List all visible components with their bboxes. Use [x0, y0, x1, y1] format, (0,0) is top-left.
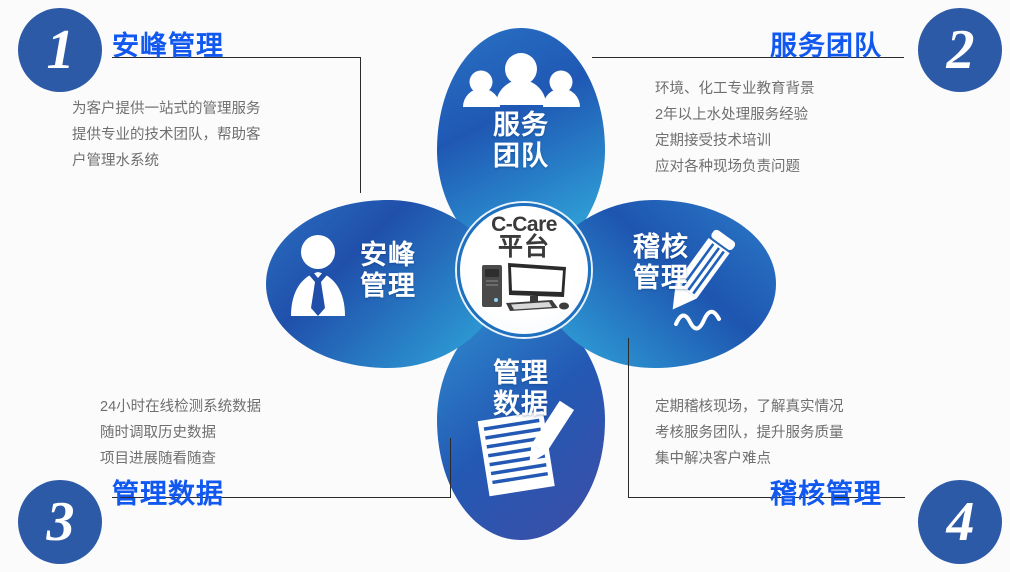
step-number-badge-4[interactable]: 4: [918, 480, 1002, 564]
petal-label-left: 安峰 管理: [345, 240, 431, 302]
hub-title-cn: 平台: [498, 235, 550, 260]
section-body-4-line-1: 定期稽核现场，了解真实情况: [655, 394, 844, 420]
section-body-2-line-4: 应对各种现场负责问题: [655, 154, 815, 180]
petal-label-bottom: 管理 数据: [478, 358, 564, 420]
petal-label-top: 服务 团队: [478, 110, 564, 172]
section-body-1-line-3: 户管理水系统: [72, 148, 261, 174]
step-number-badge-2[interactable]: 2: [918, 8, 1002, 92]
section-body-4: 定期稽核现场，了解真实情况 考核服务团队，提升服务质量 集中解决客户难点: [655, 394, 844, 472]
section-body-3-line-2: 随时调取历史数据: [100, 420, 261, 446]
desktop-computer-icon: [478, 261, 570, 313]
section-title-2: 服务团队: [770, 24, 882, 63]
section-body-1: 为客户提供一站式的管理服务 提供专业的技术团队，帮助客 户管理水系统: [72, 96, 261, 174]
petal-label-bottom-line2: 数据: [478, 389, 564, 420]
section-body-2-line-2: 2年以上水处理服务经验: [655, 102, 815, 128]
step-number-4: 4: [947, 494, 974, 550]
section-title-4: 稽核管理: [770, 472, 882, 511]
section-body-2-line-1: 环境、化工专业教育背景: [655, 76, 815, 102]
section-title-3: 管理数据: [112, 472, 224, 511]
step-number-3: 3: [47, 494, 74, 550]
connector-line-3-vertical: [450, 438, 451, 498]
petal-label-right-line2: 管理: [618, 263, 704, 294]
section-body-4-line-3: 集中解决客户难点: [655, 446, 844, 472]
petal-label-top-line1: 服务: [478, 110, 564, 141]
section-body-4-line-2: 考核服务团队，提升服务质量: [655, 420, 844, 446]
step-number-1: 1: [47, 22, 74, 78]
section-body-2-line-3: 定期接受技术培训: [655, 128, 815, 154]
section-body-3: 24小时在线检测系统数据 随时调取历史数据 项目进展随看随查: [100, 394, 261, 472]
petal-label-top-line2: 团队: [478, 141, 564, 172]
section-body-3-line-1: 24小时在线检测系统数据: [100, 394, 261, 420]
petal-label-left-line1: 安峰: [345, 240, 431, 271]
step-number-badge-3[interactable]: 3: [18, 480, 102, 564]
petal-label-bottom-line1: 管理: [478, 358, 564, 389]
section-body-1-line-2: 提供专业的技术团队，帮助客: [72, 122, 261, 148]
infographic-canvas: 服务 团队 安峰 管理 稽核 管理 管理 数据 C-Care 平台: [0, 0, 1010, 572]
petal-label-right-line1: 稽核: [618, 232, 704, 263]
connector-line-1-vertical: [360, 57, 361, 193]
section-title-1: 安峰管理: [112, 24, 224, 63]
petal-label-left-line2: 管理: [345, 271, 431, 302]
connector-line-4-vertical: [628, 338, 629, 498]
section-body-2: 环境、化工专业教育背景 2年以上水处理服务经验 定期接受技术培训 应对各种现场负…: [655, 76, 815, 180]
section-body-3-line-3: 项目进展随看随查: [100, 446, 261, 472]
petal-label-right: 稽核 管理: [618, 232, 704, 294]
section-body-1-line-1: 为客户提供一站式的管理服务: [72, 96, 261, 122]
step-number-badge-1[interactable]: 1: [18, 8, 102, 92]
step-number-2: 2: [947, 22, 974, 78]
center-hub[interactable]: C-Care 平台: [457, 203, 591, 337]
